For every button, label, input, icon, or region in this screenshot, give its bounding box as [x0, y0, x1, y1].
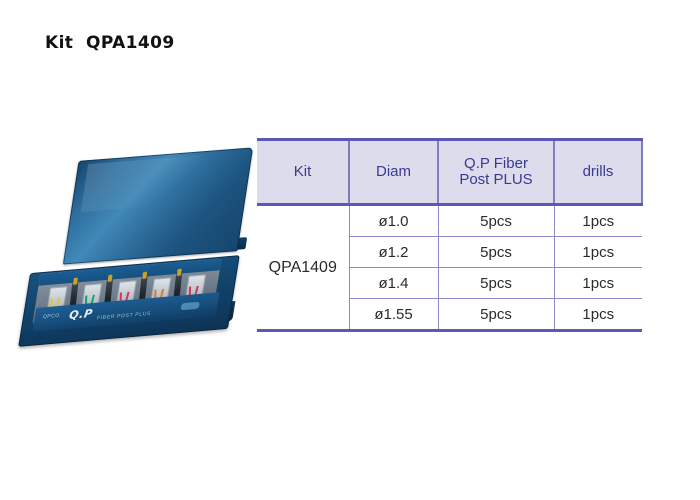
header-row: Kit Diam Q.P Fiber Post PLUS drills [257, 140, 642, 205]
cell-diam: ø1.0 [349, 205, 438, 237]
cell-diam: ø1.2 [349, 237, 438, 268]
cell-drills: 1pcs [554, 268, 642, 299]
column-header-fiber: Q.P Fiber Post PLUS [438, 140, 554, 205]
lid-gloss-highlight [81, 152, 242, 212]
spec-table-head: Kit Diam Q.P Fiber Post PLUS drills [257, 140, 642, 205]
column-header-fiber-line2: Post PLUS [459, 171, 532, 188]
table-row: QPA1409 ø1.0 5pcs 1pcs [257, 205, 642, 237]
kit-case-illustration: QPCO Q.P FIBER POST PLUS [14, 152, 240, 352]
cell-diam: ø1.55 [349, 299, 438, 330]
product-photo: QPCO Q.P FIBER POST PLUS [14, 152, 240, 352]
brand-accent-chip [180, 302, 199, 311]
spec-table: Kit Diam Q.P Fiber Post PLUS drills QPA1… [257, 138, 643, 329]
cell-fiber: 5pcs [438, 268, 554, 299]
column-header-kit: Kit [257, 140, 349, 205]
case-lid [63, 147, 253, 264]
column-header-drills: drills [554, 140, 642, 205]
brand-logo-text: Q.P [68, 307, 94, 322]
page-title: Kit QPA1409 [45, 33, 175, 53]
cell-drills: 1pcs [554, 237, 642, 268]
cell-fiber: 5pcs [438, 205, 554, 237]
table-bottom-rule [257, 329, 642, 332]
cell-drills: 1pcs [554, 205, 642, 237]
column-header-fiber-line1: Q.P Fiber [464, 155, 528, 172]
brand-subtitle-text: FIBER POST PLUS [96, 311, 151, 322]
manufacturer-mark: QPCO [42, 313, 60, 320]
cell-kit-name: QPA1409 [257, 205, 349, 330]
spec-table-container: Kit Diam Q.P Fiber Post PLUS drills QPA1… [257, 138, 642, 329]
cell-fiber: 5pcs [438, 237, 554, 268]
cell-fiber: 5pcs [438, 299, 554, 330]
column-header-diam: Diam [349, 140, 438, 205]
cell-drills: 1pcs [554, 299, 642, 330]
spec-table-body: QPA1409 ø1.0 5pcs 1pcs ø1.2 5pcs 1pcs ø1… [257, 205, 642, 330]
cell-diam: ø1.4 [349, 268, 438, 299]
